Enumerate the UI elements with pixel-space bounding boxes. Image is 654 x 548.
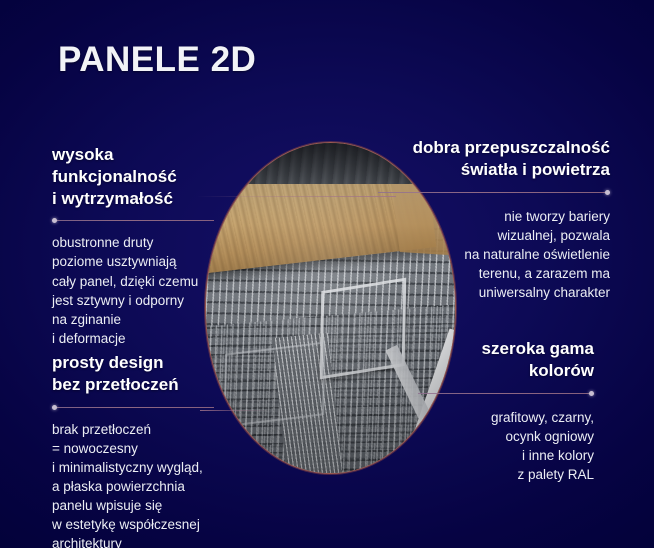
feature-bottom-right-heading: szeroka gama kolorów bbox=[414, 338, 594, 382]
divider-dot bbox=[589, 391, 594, 396]
feature-top-left-heading: wysoka funkcjonalność i wytrzymałość bbox=[52, 144, 220, 209]
divider-dot bbox=[52, 218, 57, 223]
feature-bottom-left-body: brak przetłoczeń = nowoczesny i minimali… bbox=[52, 420, 224, 548]
feature-top-right-heading: dobra przepuszczalność światła i powietr… bbox=[378, 137, 610, 181]
feature-top-left-divider bbox=[52, 220, 214, 221]
feature-bottom-left-divider bbox=[52, 407, 214, 408]
divider-dot bbox=[52, 405, 57, 410]
feature-top-right: dobra przepuszczalność światła i powietr… bbox=[378, 137, 610, 302]
feature-top-left: wysoka funkcjonalność i wytrzymałość obu… bbox=[52, 144, 220, 348]
infographic-poster: PANELE 2D wysoka funkcjonalność i wytrzy… bbox=[0, 0, 654, 548]
feature-top-right-body: nie tworzy bariery wizualnej, pozwala na… bbox=[378, 207, 610, 303]
feature-top-left-body: obustronne druty poziome usztywniają cał… bbox=[52, 233, 220, 348]
feature-top-right-divider bbox=[378, 192, 610, 193]
feature-bottom-left: prosty design bez przetłoczeń brak przet… bbox=[52, 352, 224, 548]
feature-bottom-right-divider bbox=[418, 393, 594, 394]
feature-bottom-right-body: grafitowy, czarny, ocynk ogniowy i inne … bbox=[414, 408, 594, 485]
feature-bottom-left-heading: prosty design bez przetłoczeń bbox=[52, 352, 224, 396]
page-title: PANELE 2D bbox=[58, 40, 256, 80]
feature-bottom-right: szeroka gama kolorów grafitowy, czarny, … bbox=[414, 338, 594, 484]
divider-dot bbox=[605, 190, 610, 195]
